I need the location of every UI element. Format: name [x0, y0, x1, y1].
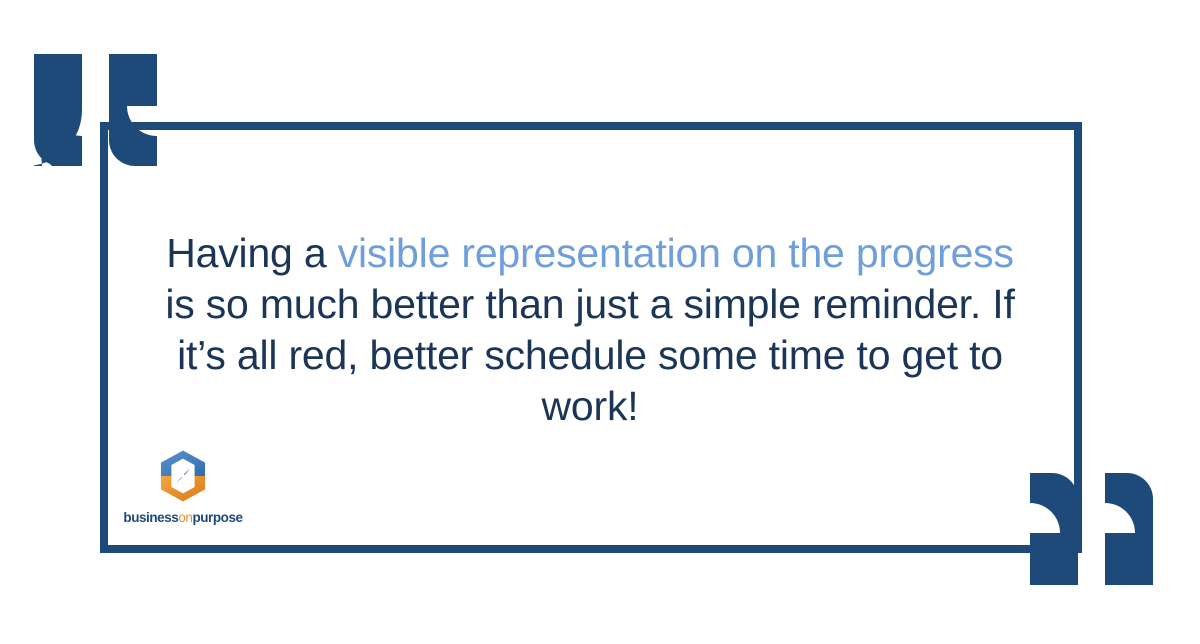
open-quote-mark — [34, 54, 165, 166]
logo-word-purpose: purpose — [192, 510, 242, 525]
close-quote-mark — [1022, 473, 1153, 585]
logo: businessonpurpose — [112, 447, 254, 525]
logo-word-business: business — [123, 510, 178, 525]
quote-segment-3: is so much better than just a simple rem… — [165, 281, 1014, 429]
quote-segment-highlight: visible representation on the progress — [338, 230, 1014, 276]
logo-word-on: on — [178, 510, 192, 525]
business-on-purpose-hexagon-compass-logo — [154, 447, 212, 505]
quote-card: Having a visible representation on the p… — [0, 0, 1200, 644]
quote-text: Having a visible representation on the p… — [150, 228, 1030, 432]
logo-wordmark: businessonpurpose — [112, 511, 254, 525]
quote-segment-1: Having a — [166, 230, 337, 276]
